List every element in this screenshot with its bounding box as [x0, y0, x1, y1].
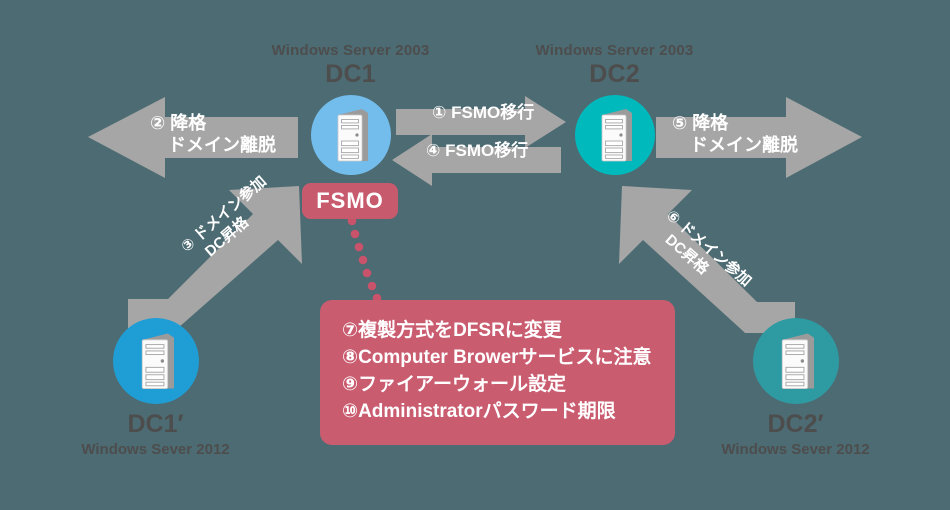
- dc2-name-label: DC2: [527, 60, 702, 89]
- note-item: ⑩Administratorパスワード期限: [342, 399, 657, 426]
- note-item: ⑦複製方式をDFSRに変更: [342, 318, 657, 345]
- dc2-circle: [575, 95, 655, 175]
- node-dc1-prime[interactable]: DC1′ Windows Sever 2012: [68, 318, 243, 458]
- dc1-prime-name-label: DC1′: [68, 410, 243, 439]
- dc2-prime-name-label: DC2′: [708, 410, 883, 439]
- dc1-prime-circle: [113, 318, 199, 404]
- node-dc1[interactable]: Windows Server 2003 DC1: [263, 42, 438, 175]
- dc1-os-label: Windows Server 2003: [263, 42, 438, 59]
- server-tower-icon: [138, 331, 174, 391]
- dc1-name-label: DC1: [263, 60, 438, 89]
- diagram-canvas: ① FSMO移行 ② 降格 ドメイン離脱 ③ ドメイン参加 DC昇格 ④ FSM…: [0, 0, 950, 510]
- node-dc2[interactable]: Windows Server 2003 DC2: [527, 42, 702, 175]
- fsmo-to-note-dotted-line: [348, 217, 382, 303]
- dc1-prime-os-label: Windows Sever 2012: [68, 441, 243, 458]
- notes-box: ⑦複製方式をDFSRに変更 ⑧Computer Browerサービスに注意 ⑨フ…: [320, 300, 675, 445]
- dc1-circle: [311, 95, 391, 175]
- notes-list: ⑦複製方式をDFSRに変更 ⑧Computer Browerサービスに注意 ⑨フ…: [342, 318, 657, 426]
- fsmo-pill: FSMO: [302, 183, 398, 219]
- dc2-prime-circle: [753, 318, 839, 404]
- arrow-step3-diagonal: [128, 186, 302, 330]
- node-dc2-prime[interactable]: DC2′ Windows Sever 2012: [708, 318, 883, 458]
- note-item: ⑨ファイアーウォール設定: [342, 372, 657, 399]
- server-tower-icon: [778, 331, 814, 391]
- note-item: ⑧Computer Browerサービスに注意: [342, 345, 657, 372]
- dc2-os-label: Windows Server 2003: [527, 42, 702, 59]
- dc2-prime-os-label: Windows Sever 2012: [708, 441, 883, 458]
- server-tower-icon: [598, 107, 632, 163]
- server-tower-icon: [334, 107, 368, 163]
